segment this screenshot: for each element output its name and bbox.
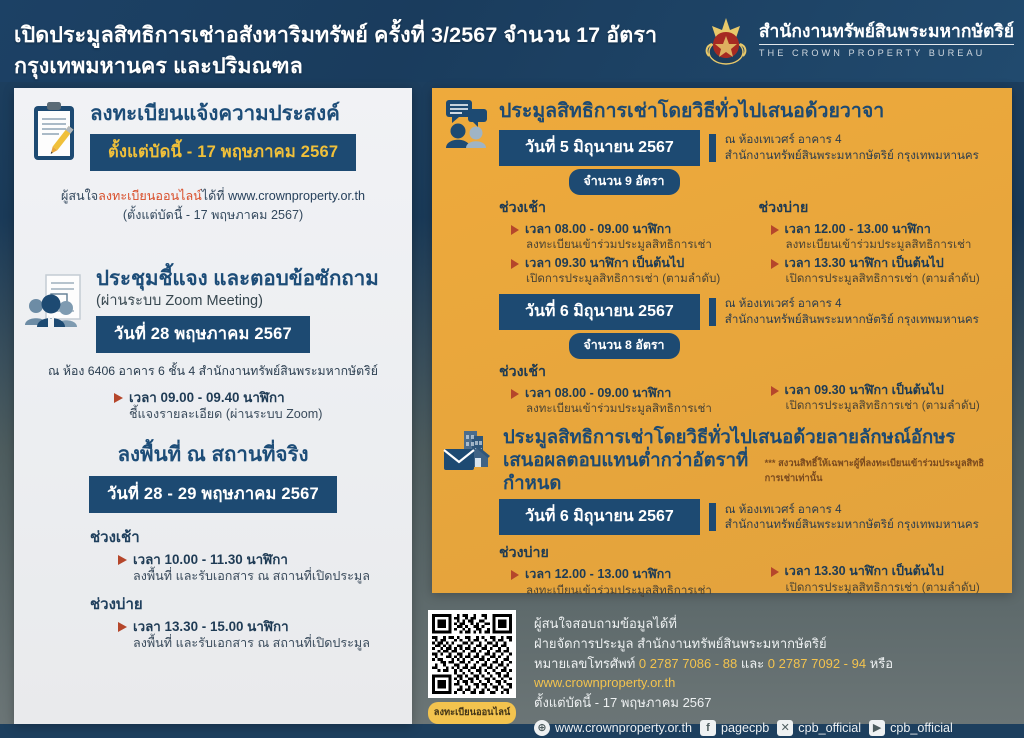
afternoon-time: เวลา 13.30 - 15.00 นาฬิกา: [133, 618, 289, 635]
triangle-bullet-icon: [118, 555, 127, 565]
event-1-venue-line2: สำนักงานทรัพย์สินพระมหากษัตริย์ กรุงเทพม…: [725, 149, 979, 162]
slot-label-afternoon: ช่วงบ่าย: [90, 592, 412, 616]
logo-thai-name: สำนักงานทรัพย์สินพระมหากษัตริย์: [759, 22, 1014, 44]
date-accent-bar: [709, 298, 716, 326]
page-title-line2: กรุงเทพมหานคร และปริมณฑล: [14, 51, 657, 82]
e3-a-b1-time: เวลา 12.00 - 13.00 นาฬิกา: [525, 566, 671, 582]
social-website-label: www.crownproperty.or.th: [555, 719, 692, 738]
triangle-bullet-icon: [771, 225, 779, 235]
section-meeting: ประชุมชี้แจง และตอบข้อซักถาม (ผ่านระบบ Z…: [14, 263, 412, 423]
event-2-second-column: เวลา 09.30 นาฬิกา เป็นต้นไป เปิดการประมู…: [759, 361, 999, 417]
e1-m-b1-time: เวลา 08.00 - 09.00 นาฬิกา: [525, 221, 671, 237]
triangle-bullet-icon: [511, 570, 519, 580]
social-links: ⊕ www.crownproperty.or.th f pagecpb ✕ cp…: [534, 719, 1024, 738]
event-2-quantity-badge: จำนวน 8 อัตรา: [569, 333, 680, 359]
e1-m-b2-detail: เปิดการประมูลสิทธิการเช่า (ตามลำดับ): [526, 271, 739, 287]
site-visit-slot-afternoon: ช่วงบ่าย เวลา 13.30 - 15.00 นาฬิกา ลงพื้…: [90, 592, 412, 652]
event-1-quantity-badge: จำนวน 9 อัตรา: [569, 169, 680, 195]
event-3-venue: ณ ห้องเทเวศร์ อาคาร 4 สำนักงานทรัพย์สินพ…: [725, 502, 979, 533]
logo-english-name: THE CROWN PROPERTY BUREAU: [759, 45, 1014, 58]
morning-detail: ลงพื้นที่ และรับเอกสาร ณ สถานที่เปิดประม…: [133, 568, 412, 585]
triangle-bullet-icon: [771, 386, 779, 396]
triangle-bullet-icon: [511, 389, 519, 399]
e3-a-b1-detail: ลงทะเบียนเข้าร่วมประมูลสิทธิการเช่า: [526, 583, 739, 599]
e1-a-b1-time: เวลา 12.00 - 13.00 นาฬิกา: [785, 221, 931, 237]
page-footer: ลงทะเบียนออนไลน์ ผู้สนใจสอบถามข้อมูลได้ท…: [424, 604, 1024, 724]
slot-label-morning: ช่วงเช้า: [90, 525, 412, 549]
event-3-second-label: [759, 542, 999, 561]
event-2-daterow: วันที่ 6 มิถุนายน 2567 ณ ห้องเทเวศร์ อาค…: [499, 294, 998, 330]
page-title: เปิดประมูลสิทธิการเช่าอสังหาริมทรัพย์ คร…: [14, 20, 657, 81]
e1-m-b2-time: เวลา 09.30 นาฬิกา เป็นต้นไป: [525, 255, 684, 271]
e1-m-b1-detail: ลงทะเบียนเข้าร่วมประมูลสิทธิการเช่า: [526, 237, 739, 253]
event-1-afternoon-label: ช่วงบ่าย: [759, 197, 999, 219]
date-accent-bar: [709, 134, 716, 162]
triangle-bullet-icon: [511, 225, 519, 235]
page-title-line1: เปิดประมูลสิทธิการเช่าอสังหาริมทรัพย์ คร…: [14, 23, 657, 47]
qr-code-icon[interactable]: [428, 610, 516, 698]
e3-s-b1-time: เวลา 13.30 นาฬิกา เป็นต้นไป: [785, 563, 944, 579]
written-auction-note: *** สงวนสิทธิ์ให้เฉพาะผู้ที่ลงทะเบียนเข้…: [765, 456, 998, 486]
event-1-daterow: วันที่ 5 มิถุนายน 2567 ณ ห้องเทเวศร์ อาค…: [499, 130, 998, 166]
date-accent-bar: [709, 503, 716, 531]
social-youtube-label: cpb_official: [890, 719, 953, 738]
people-document-icon: [22, 273, 88, 342]
note-highlight: ลงทะเบียนออนไลน์: [98, 189, 202, 203]
meeting-bullet-time: เวลา 09.00 - 09.40 นาฬิกา: [129, 389, 285, 406]
section-site-visit-title: ลงพื้นที่ ณ สถานที่จริง: [14, 443, 412, 468]
event-2-morning-label: ช่วงเช้า: [499, 361, 739, 383]
meeting-date-pill: วันที่ 28 พฤษภาคม 2567: [96, 316, 310, 353]
social-link-youtube[interactable]: ▶ cpb_official: [869, 719, 953, 738]
note-prefix: ผู้สนใจ: [61, 189, 98, 203]
e2-m-b1-detail: ลงทะเบียนเข้าร่วมประมูลสิทธิการเช่า: [526, 401, 739, 417]
footer-line-1: ผู้สนใจสอบถามข้อมูลได้ที่: [534, 614, 1024, 634]
crown-emblem-icon: [702, 14, 750, 66]
verbal-auction-title: ประมูลสิทธิการเช่าโดยวิธีทั่วไปเสนอด้วยว…: [499, 100, 998, 124]
written-auction-header: ประมูลสิทธิการเช่าโดยวิธีทั่วไปเสนอด้วยล…: [442, 425, 998, 494]
infographic-page: เปิดประมูลสิทธิการเช่าอสังหาริมทรัพย์ คร…: [0, 0, 1024, 724]
triangle-bullet-icon: [771, 567, 779, 577]
event-3-afternoon-column: ช่วงบ่าย เวลา 12.00 - 13.00 นาฬิกา ลงทะเ…: [499, 542, 739, 598]
section-registration-title: ลงทะเบียนแจ้งความประสงค์: [90, 102, 356, 127]
registration-note: ผู้สนใจลงทะเบียนออนไลน์ได้ที่ www.crownp…: [14, 187, 412, 226]
event-1-venue: ณ ห้องเทเวศร์ อาคาร 4 สำนักงานทรัพย์สินพ…: [725, 132, 979, 163]
event-1-date: วันที่ 5 มิถุนายน 2567: [499, 130, 700, 166]
event-3-venue-line1: ณ ห้องเทเวศร์ อาคาร 4: [725, 503, 842, 516]
section-site-visit: ลงพื้นที่ ณ สถานที่จริง วันที่ 28 - 29 พ…: [14, 443, 412, 652]
event-3-second-column: เวลา 13.30 นาฬิกา เป็นต้นไป เปิดการประมู…: [759, 542, 999, 598]
event-1-morning-label: ช่วงเช้า: [499, 197, 739, 219]
e3-s-b1-detail: เปิดการประมูลสิทธิการเช่า (ตามลำดับ): [786, 580, 999, 596]
registration-date-pill: ตั้งแต่บัดนี้ - 17 พฤษภาคม 2567: [90, 134, 356, 171]
page-header: เปิดประมูลสิทธิการเช่าอสังหาริมทรัพย์ คร…: [0, 0, 1024, 82]
triangle-bullet-icon: [118, 622, 127, 632]
phone-or: หรือ: [866, 656, 893, 671]
e1-a-b2-detail: เปิดการประมูลสิทธิการเช่า (ตามลำดับ): [786, 271, 999, 287]
written-auction-title-line1: ประมูลสิทธิการเช่าโดยวิธีทั่วไปเสนอด้วยล…: [503, 425, 998, 448]
youtube-icon: ▶: [869, 720, 885, 736]
section-registration: ลงทะเบียนแจ้งความประสงค์ ตั้งแต่บัดนี้ -…: [14, 98, 412, 226]
registration-url[interactable]: www.crownproperty.or.th: [228, 189, 365, 203]
triangle-bullet-icon: [114, 393, 123, 403]
event-3-date: วันที่ 6 มิถุนายน 2567: [499, 499, 700, 535]
phone-number-2: 0 2787 7092 - 94: [768, 656, 866, 671]
social-link-facebook[interactable]: f pagecpb: [700, 719, 769, 738]
meeting-place: ณ ห้อง 6406 อาคาร 6 ชั้น 4 สำนักงานทรัพย…: [14, 362, 412, 381]
event-3-daterow: วันที่ 6 มิถุนายน 2567 ณ ห้องเทเวศร์ อาค…: [499, 499, 998, 535]
e2-s-b1-detail: เปิดการประมูลสิทธิการเช่า (ตามลำดับ): [786, 398, 999, 414]
phone-and: และ: [737, 656, 768, 671]
right-auction-panel: ประมูลสิทธิการเช่าโดยวิธีทั่วไปเสนอด้วยว…: [432, 88, 1012, 593]
footer-phone-line: หมายเลขโทรศัพท์ 0 2787 7086 - 88 และ 0 2…: [534, 654, 1024, 694]
qr-register-badge: ลงทะเบียนออนไลน์: [428, 702, 517, 724]
afternoon-detail: ลงพื้นที่ และรับเอกสาร ณ สถานที่เปิดประม…: [133, 635, 412, 652]
event-2-venue: ณ ห้องเทเวศร์ อาคาร 4 สำนักงานทรัพย์สินพ…: [725, 296, 979, 327]
note-line2: (ตั้งแต่บัดนี้ - 17 พฤษภาคม 2567): [32, 206, 394, 226]
event-3-afternoon-label: ช่วงบ่าย: [499, 542, 739, 564]
event-2-date: วันที่ 6 มิถุนายน 2567: [499, 294, 700, 330]
organization-logo: สำนักงานทรัพย์สินพระมหากษัตริย์ THE CROW…: [702, 14, 1014, 66]
meeting-bullet-detail: ชี้แจงรายละเอียด (ผ่านระบบ Zoom): [129, 406, 412, 423]
facebook-icon: f: [700, 720, 716, 736]
event-2-venue-line1: ณ ห้องเทเวศร์ อาคาร 4: [725, 297, 842, 310]
event-2-morning-column: ช่วงเช้า เวลา 08.00 - 09.00 นาฬิกา ลงทะเ…: [499, 361, 739, 417]
written-auction-title-line2: เสนอผลตอบแทนต่ำกว่าอัตราที่กำหนด: [503, 448, 759, 494]
event-1-venue-line1: ณ ห้องเทเวศร์ อาคาร 4: [725, 133, 842, 146]
triangle-bullet-icon: [771, 259, 779, 269]
verbal-auction-header: ประมูลสิทธิการเช่าโดยวิธีทั่วไปเสนอด้วยว…: [442, 98, 998, 166]
event-1-morning-column: ช่วงเช้า เวลา 08.00 - 09.00 นาฬิกา ลงทะเ…: [499, 197, 739, 287]
speech-bubble-people-icon: [442, 98, 490, 153]
social-link-website[interactable]: ⊕ www.crownproperty.or.th: [534, 719, 692, 738]
logo-text: สำนักงานทรัพย์สินพระมหากษัตริย์ THE CROW…: [759, 22, 1014, 57]
footer-line-2: ฝ่ายจัดการประมูล สำนักงานทรัพย์สินพระมหา…: [534, 634, 1024, 654]
clipboard-pencil-icon: [26, 100, 82, 169]
event-3-venue-line2: สำนักงานทรัพย์สินพระมหากษัตริย์ กรุงเทพม…: [725, 518, 979, 531]
section-meeting-title: ประชุมชี้แจง และตอบข้อซักถาม: [96, 267, 379, 292]
qr-block: ลงทะเบียนออนไลน์: [424, 610, 520, 724]
footer-line-4: ตั้งแต่บัดนี้ - 17 พฤษภาคม 2567: [534, 693, 1024, 713]
e2-m-b1-time: เวลา 08.00 - 09.00 นาฬิกา: [525, 385, 671, 401]
footer-contact: ผู้สนใจสอบถามข้อมูลได้ที่ ฝ่ายจัดการประม…: [534, 610, 1024, 738]
social-x-label: cpb_official: [798, 719, 861, 738]
phone-number-1: 0 2787 7086 - 88: [639, 656, 737, 671]
phone-label: หมายเลขโทรศัพท์: [534, 656, 639, 671]
site-visit-slot-morning: ช่วงเช้า เวลา 10.00 - 11.30 นาฬิกา ลงพื้…: [90, 525, 412, 585]
section-meeting-subtitle: (ผ่านระบบ Zoom Meeting): [96, 292, 379, 310]
meeting-bullet: เวลา 09.00 - 09.40 นาฬิกา: [114, 389, 412, 406]
event-2-second-label: [759, 361, 999, 380]
x-twitter-icon: ✕: [777, 720, 793, 736]
footer-website-url[interactable]: www.crownproperty.or.th: [534, 675, 675, 690]
e2-s-b1-time: เวลา 09.30 นาฬิกา เป็นต้นไป: [785, 382, 944, 398]
left-schedule-panel: ลงทะเบียนแจ้งความประสงค์ ตั้งแต่บัดนี้ -…: [14, 88, 412, 724]
e1-a-b2-time: เวลา 13.30 นาฬิกา เป็นต้นไป: [785, 255, 944, 271]
site-visit-date-pill: วันที่ 28 - 29 พฤษภาคม 2567: [89, 476, 337, 513]
globe-icon: ⊕: [534, 720, 550, 736]
social-link-x[interactable]: ✕ cpb_official: [777, 719, 861, 738]
triangle-bullet-icon: [511, 259, 519, 269]
event-1-afternoon-column: ช่วงบ่าย เวลา 12.00 - 13.00 นาฬิกา ลงทะเ…: [759, 197, 999, 287]
note-mid: ได้ที่: [202, 189, 228, 203]
event-2-venue-line2: สำนักงานทรัพย์สินพระมหากษัตริย์ กรุงเทพม…: [725, 313, 979, 326]
social-facebook-label: pagecpb: [721, 719, 769, 738]
e1-a-b1-detail: ลงทะเบียนเข้าร่วมประมูลสิทธิการเช่า: [786, 237, 999, 253]
morning-time: เวลา 10.00 - 11.30 นาฬิกา: [133, 551, 288, 568]
envelope-buildings-icon: [442, 429, 494, 482]
